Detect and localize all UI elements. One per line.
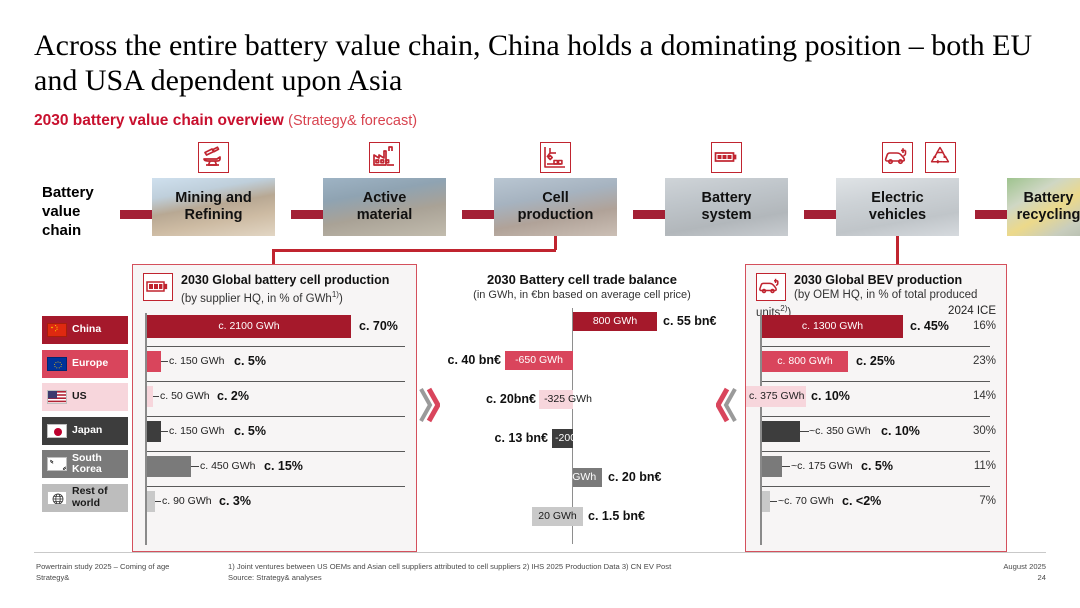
bar-share-label: c. 3%: [219, 495, 251, 508]
row-separator: [147, 346, 405, 347]
bar-value-label: 800 GWh: [573, 312, 657, 331]
bar-share-label: c. 25%: [856, 355, 895, 368]
bar-japan: [762, 421, 800, 442]
bar-share-label: c. 10%: [881, 425, 920, 438]
row-separator: [762, 381, 990, 382]
footer-study-name: Powertrain study 2025 – Coming of age: [36, 562, 169, 573]
row-separator: [762, 486, 990, 487]
battery-icon: [711, 142, 742, 173]
bar-value-label: -325 GWh: [539, 390, 597, 409]
leader-line: [155, 501, 161, 502]
leader-line: [782, 466, 790, 467]
stage-caption-line2: recycling: [1017, 207, 1080, 223]
stage-caption-line2: Refining: [184, 207, 242, 223]
legend-item-us[interactable]: US: [42, 383, 128, 411]
bar-share-label: c. 2%: [217, 390, 249, 403]
row-separator: [147, 451, 405, 452]
stage-caption: Batteryrecycling: [1007, 178, 1080, 236]
ice-share-label: 14%: [962, 390, 996, 403]
legend-label: US: [72, 391, 87, 403]
bar-rest-of-world: [147, 491, 155, 512]
row-separator: [762, 416, 990, 417]
connector-cell-production-v: [272, 249, 275, 265]
flag-south-korea: [47, 457, 67, 471]
legend-item-china[interactable]: China: [42, 316, 128, 344]
page-title: Across the entire battery value chain, C…: [34, 28, 1044, 98]
value-chain-stage-electric-vehicles[interactable]: Electricvehicles: [836, 178, 959, 236]
bar-share-label: c. 10%: [811, 390, 850, 403]
bar-value-label: c. 800 GWh: [762, 351, 848, 372]
stage-caption: Cellproduction: [494, 178, 617, 236]
stage-caption: Mining andRefining: [152, 178, 275, 236]
bar-share-label: c. 5%: [234, 355, 266, 368]
bar-money-label: c. 13 bn€: [432, 429, 548, 448]
chart-subtitle: (in GWh, in €bn based on average cell pr…: [432, 289, 732, 301]
leader-line: [161, 361, 168, 362]
anvil-hammer-icon: [198, 142, 229, 173]
ice-share-label: 16%: [962, 320, 996, 333]
chevron-left-icon: [716, 385, 738, 425]
bar-money-label: c. 20 bn€: [608, 468, 662, 487]
legend-label: Japan: [72, 425, 102, 437]
ice-share-label: 11%: [962, 460, 996, 473]
subtitle-light: (Strategy& forecast): [288, 113, 417, 129]
stage-caption: Electricvehicles: [836, 178, 959, 236]
bar-money-label: c. 40 bn€: [432, 351, 501, 370]
battery-icon: [143, 273, 173, 301]
connector-electric-vehicles: [896, 236, 899, 250]
bar-value-label: -200 GWh: [550, 429, 608, 448]
stage-caption-line1: Electric: [871, 190, 923, 206]
flag-europe: [47, 357, 67, 371]
legend-item-south-korea[interactable]: SouthKorea: [42, 450, 128, 478]
bar-value-label: c. 1300 GWh: [762, 316, 903, 337]
footer-notes: 1) Joint ventures between US OEMs and As…: [228, 562, 671, 583]
footer-left: Powertrain study 2025 – Coming of age St…: [36, 562, 169, 583]
footer-source: Source: Strategy& analyses: [228, 573, 671, 584]
value-chain-stage-battery-system[interactable]: Batterysystem: [665, 178, 788, 236]
ice-share-label: 7%: [962, 495, 996, 508]
stage-caption-line1: Battery: [702, 190, 752, 206]
ice-column-header: 2024 ICE: [948, 305, 996, 317]
flag-china: [47, 323, 67, 337]
bar-share-label: c. <2%: [842, 495, 881, 508]
bar-value-label: c. 2100 GWh: [147, 316, 351, 337]
leader-line: [191, 466, 199, 467]
value-chain-label-line3: chain: [42, 221, 152, 240]
bar-value-label: c. 375 GWh: [749, 390, 804, 403]
globe-icon: [47, 491, 67, 505]
chart-battery-cell-trade-balance: 2030 Battery cell trade balance (in GWh,…: [432, 268, 732, 552]
chevron-right-icon: [418, 385, 440, 425]
connector-cell-production: [554, 236, 557, 250]
bar-value-label: c. 50 GWh: [160, 390, 210, 403]
ev-charging-car-icon: [756, 273, 786, 301]
panel-global-bev-production: 2030 Global BEV production (by OEM HQ, i…: [745, 264, 1007, 552]
bar-rest-of-world: [762, 491, 770, 512]
footer-right: August 2025 24: [1003, 562, 1046, 583]
footer-divider: [34, 552, 1046, 553]
stage-caption-line2: material: [357, 207, 413, 223]
footer-date: August 2025: [1003, 562, 1046, 573]
row-separator: [147, 416, 405, 417]
footer-brand: Strategy&: [36, 573, 169, 584]
value-chain-stage-cell-production[interactable]: Cellproduction: [494, 178, 617, 236]
bar-value-label: -650 GWh: [505, 351, 573, 370]
panel-title: 2030 Global battery cell production: [143, 273, 408, 288]
bar-value-label: c. 150 GWh: [169, 355, 224, 368]
bar-share-label: c. 15%: [264, 460, 303, 473]
country-legend: China Europe US Japan SouthKorea Rest of…: [42, 316, 128, 517]
page-subtitle: 2030 battery value chain overview (Strat…: [34, 112, 417, 130]
row-separator: [147, 486, 405, 487]
bar-value-label: 20 GWh: [532, 507, 583, 526]
value-chain-stage-mining-and-refining[interactable]: Mining andRefining: [152, 178, 275, 236]
ice-share-label: 23%: [962, 355, 996, 368]
value-chain-stage-active-material[interactable]: Activematerial: [323, 178, 446, 236]
value-chain-stage-battery-recycling[interactable]: Batteryrecycling: [1007, 178, 1080, 236]
stage-caption-line1: Mining and: [175, 190, 252, 206]
chart-title: 2030 Battery cell trade balance: [432, 272, 732, 287]
legend-item-europe[interactable]: Europe: [42, 350, 128, 378]
row-separator: [762, 451, 990, 452]
bar-share-label: c. 70%: [359, 320, 398, 333]
bar-south-korea: [762, 456, 782, 477]
stage-caption-line1: Cell: [542, 190, 569, 206]
subtitle-bold: 2030 battery value chain overview: [34, 112, 284, 129]
bar-value-label: c. 90 GWh: [162, 495, 212, 508]
leader-line: [770, 501, 777, 502]
flag-us: [47, 390, 67, 404]
legend-label: Rest ofworld: [72, 486, 108, 509]
stage-caption-line2: production: [518, 207, 594, 223]
bar-share-label: c. 45%: [910, 320, 949, 333]
bar-money-label: c. 55 bn€: [663, 312, 717, 331]
bar-share-label: c. 5%: [234, 425, 266, 438]
bar-japan: [147, 421, 161, 442]
bar-value-label: c. 450 GWh: [200, 460, 255, 473]
stage-caption-line2: system: [702, 207, 752, 223]
factory-icon: [369, 142, 400, 173]
stage-caption: Activematerial: [323, 178, 446, 236]
footer-page-number: 24: [1003, 573, 1046, 584]
connector-ev-v: [896, 249, 899, 265]
bar-south-korea: [147, 456, 191, 477]
stage-caption-line2: vehicles: [869, 207, 926, 223]
legend-item-rest-of-world[interactable]: Rest ofworld: [42, 484, 128, 512]
value-chain-label-line1: Battery: [42, 183, 152, 202]
robot-arm-icon: [540, 142, 571, 173]
legend-label: Europe: [72, 358, 108, 370]
bar-europe: [147, 351, 161, 372]
bar-value-label: ~c. 175 GWh: [791, 460, 853, 473]
panel-global-battery-cell-production: 2030 Global battery cell production (by …: [132, 264, 417, 552]
leader-line: [161, 431, 168, 432]
panel-header: 2030 Global battery cell production (by …: [143, 273, 408, 306]
flag-japan: [47, 424, 67, 438]
stage-caption: Batterysystem: [665, 178, 788, 236]
row-separator: [762, 346, 990, 347]
ice-share-label: 30%: [962, 425, 996, 438]
stage-caption-line1: Battery: [1024, 190, 1074, 206]
row-separator: [147, 381, 405, 382]
bar-money-label: c. 1.5 bn€: [588, 507, 645, 526]
bar-share-label: c. 5%: [861, 460, 893, 473]
footer-footnotes: 1) Joint ventures between US OEMs and As…: [228, 562, 671, 573]
connector-cell-production-h: [272, 249, 556, 252]
leader-line: [800, 431, 809, 432]
bar-value-label: ~c. 70 GWh: [778, 495, 834, 508]
stage-caption-line1: Active: [363, 190, 407, 206]
legend-item-japan[interactable]: Japan: [42, 417, 128, 445]
panel-title: 2030 Global BEV production: [756, 273, 998, 288]
panel-subtitle: (by supplier HQ, in % of GWh1)): [143, 288, 408, 306]
legend-label: China: [72, 324, 101, 336]
bar-value-label: c. 150 GWh: [169, 425, 224, 438]
recycling-icon: [925, 142, 956, 173]
leader-line: [153, 396, 159, 397]
legend-label: SouthKorea: [72, 453, 102, 476]
ev-charging-car-icon: [882, 142, 913, 173]
bar-value-label: 275 GWh: [545, 468, 603, 487]
bar-value-label: ~c. 350 GWh: [809, 425, 871, 438]
bar-money-label: c. 20bn€: [432, 390, 536, 409]
